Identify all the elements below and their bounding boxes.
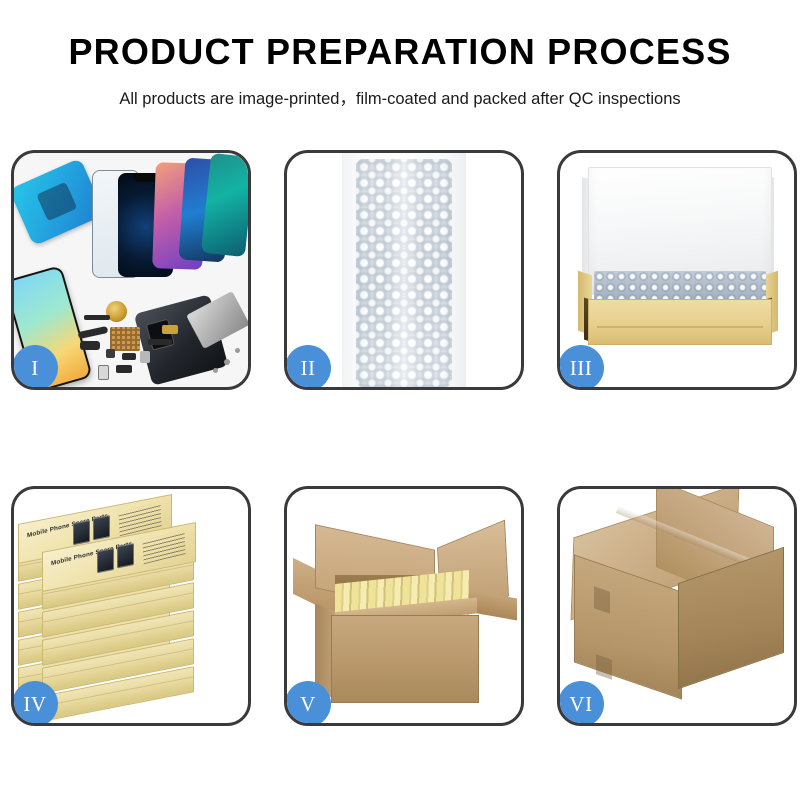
box-label-screen-image — [93, 515, 110, 540]
component-chip-icon — [162, 325, 178, 334]
component-chip-icon — [84, 315, 110, 320]
step-badge-1: I — [12, 345, 58, 390]
component-chip-icon — [98, 365, 109, 380]
component-chip-icon — [106, 349, 115, 358]
page-header: PRODUCT PREPARATION PROCESS All products… — [0, 0, 800, 109]
step-badge-3: III — [558, 345, 604, 390]
process-step-6: VI — [557, 486, 797, 726]
step-badge-2: II — [285, 345, 331, 390]
step-badge-5: V — [285, 681, 331, 726]
page-title: PRODUCT PREPARATION PROCESS — [0, 34, 800, 70]
component-chip-icon — [140, 351, 150, 363]
component-chip-icon — [122, 353, 136, 360]
bubble-wrap-highlight — [387, 153, 421, 387]
page-subtitle: All products are image-printed，film-coat… — [0, 70, 800, 109]
step-badge-6: VI — [558, 681, 604, 726]
component-chip-icon — [80, 341, 100, 350]
process-step-4: Mobile Phone Spare Parts Mobile Phone Sp… — [11, 486, 251, 726]
sealed-carton-tab-lower — [596, 654, 612, 680]
box-label-spec-lines — [142, 530, 185, 564]
process-step-1: I — [11, 150, 251, 390]
process-step-grid: I II III — [0, 150, 800, 726]
circuit-board-icon — [110, 327, 140, 351]
screw-icon — [213, 368, 218, 373]
component-chip-icon — [116, 365, 132, 373]
box-label-screen-image — [97, 548, 114, 573]
process-step-5: V — [284, 486, 524, 726]
process-step-2: II — [284, 150, 524, 390]
screw-icon — [235, 348, 240, 353]
component-chip-icon — [148, 339, 172, 345]
flex-cable-icon — [78, 326, 109, 339]
box-label-screen-image — [73, 520, 90, 545]
box-label-screen-image — [117, 543, 134, 568]
step-badge-4: IV — [12, 681, 58, 726]
screw-icon — [224, 359, 230, 365]
carton-front-panel — [331, 615, 479, 703]
process-step-3: III — [557, 150, 797, 390]
box-front-panel — [588, 299, 772, 345]
